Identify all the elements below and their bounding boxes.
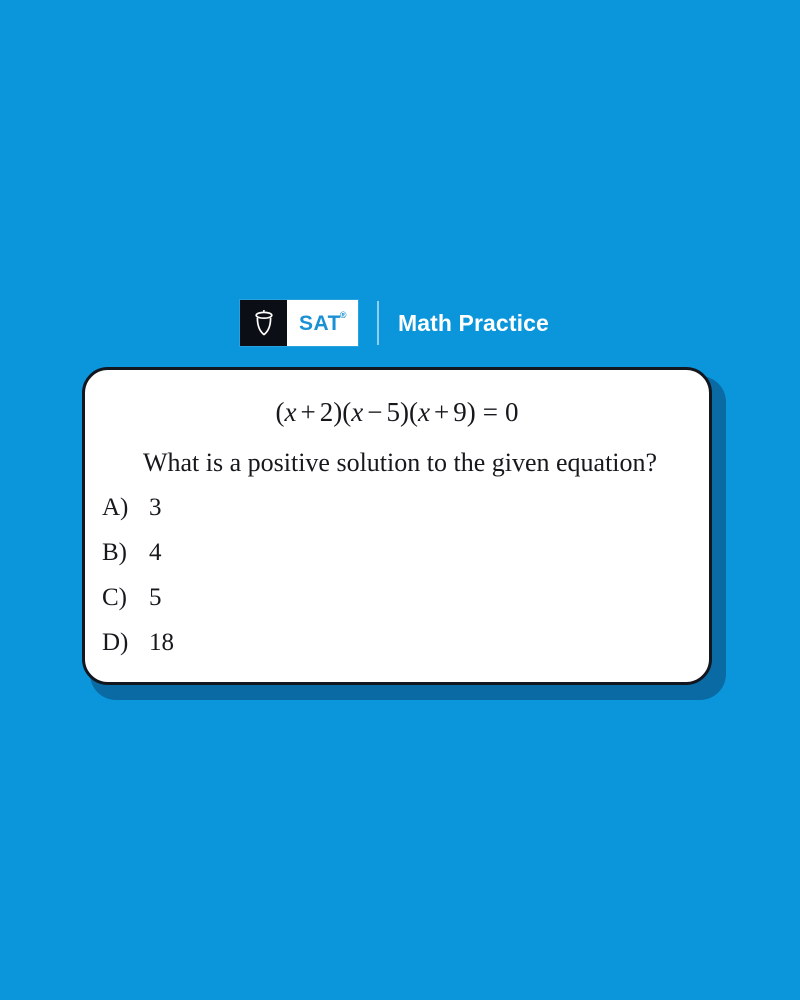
equation-variable-1: x: [285, 397, 297, 427]
sat-logo: SAT®: [240, 300, 358, 346]
answer-choice-b[interactable]: B) 4: [102, 539, 502, 584]
question-prompt: What is a positive solution to the given…: [105, 448, 695, 478]
question-card: (x+2)(x−5)(x+9)=0 What is a positive sol…: [82, 367, 712, 685]
equation-close-paren-2: ): [400, 397, 409, 427]
answer-choice-d-value: 18: [149, 629, 174, 657]
answer-choice-a-value: 3: [149, 494, 162, 522]
answer-choice-a-label: A): [102, 494, 149, 522]
equation-open-paren-1: (: [276, 397, 285, 427]
equation: (x+2)(x−5)(x+9)=0: [85, 397, 709, 428]
equation-close-paren-1: ): [333, 397, 342, 427]
answer-choice-b-value: 4: [149, 539, 162, 567]
answer-choice-d-label: D): [102, 629, 149, 657]
equation-number-2: 5: [386, 397, 400, 427]
brand-header: SAT® Math Practice: [240, 300, 549, 346]
sat-wordmark: SAT®: [299, 313, 346, 334]
equation-open-paren-3: (: [409, 397, 418, 427]
equation-close-paren-3: ): [467, 397, 476, 427]
equation-variable-3: x: [418, 397, 430, 427]
acorn-logo-tile: [240, 300, 287, 346]
answer-choice-d[interactable]: D) 18: [102, 629, 502, 674]
equation-variable-2: x: [351, 397, 363, 427]
equation-equals-sign: =: [476, 397, 505, 427]
equation-operator-1: +: [297, 397, 320, 427]
answer-choice-c-value: 5: [149, 584, 162, 612]
answer-choice-c-label: C): [102, 584, 149, 612]
answer-choice-c[interactable]: C) 5: [102, 584, 502, 629]
equation-open-paren-2: (: [342, 397, 351, 427]
header-divider: [377, 301, 379, 345]
equation-operator-3: +: [430, 397, 453, 427]
acorn-icon: [253, 310, 275, 336]
page-title: Math Practice: [398, 310, 549, 337]
equation-number-1: 2: [320, 397, 334, 427]
sat-wordmark-text: SAT: [299, 312, 341, 335]
answer-choice-a[interactable]: A) 3: [102, 494, 502, 539]
answer-choices-list: A) 3 B) 4 C) 5 D) 18: [102, 494, 502, 674]
sat-trademark-symbol: ®: [340, 311, 347, 320]
answer-choice-b-label: B): [102, 539, 149, 567]
sat-wordmark-tile: SAT®: [287, 300, 358, 346]
equation-right-hand-side: 0: [505, 397, 519, 427]
equation-number-3: 9: [453, 397, 467, 427]
equation-operator-2: −: [363, 397, 386, 427]
